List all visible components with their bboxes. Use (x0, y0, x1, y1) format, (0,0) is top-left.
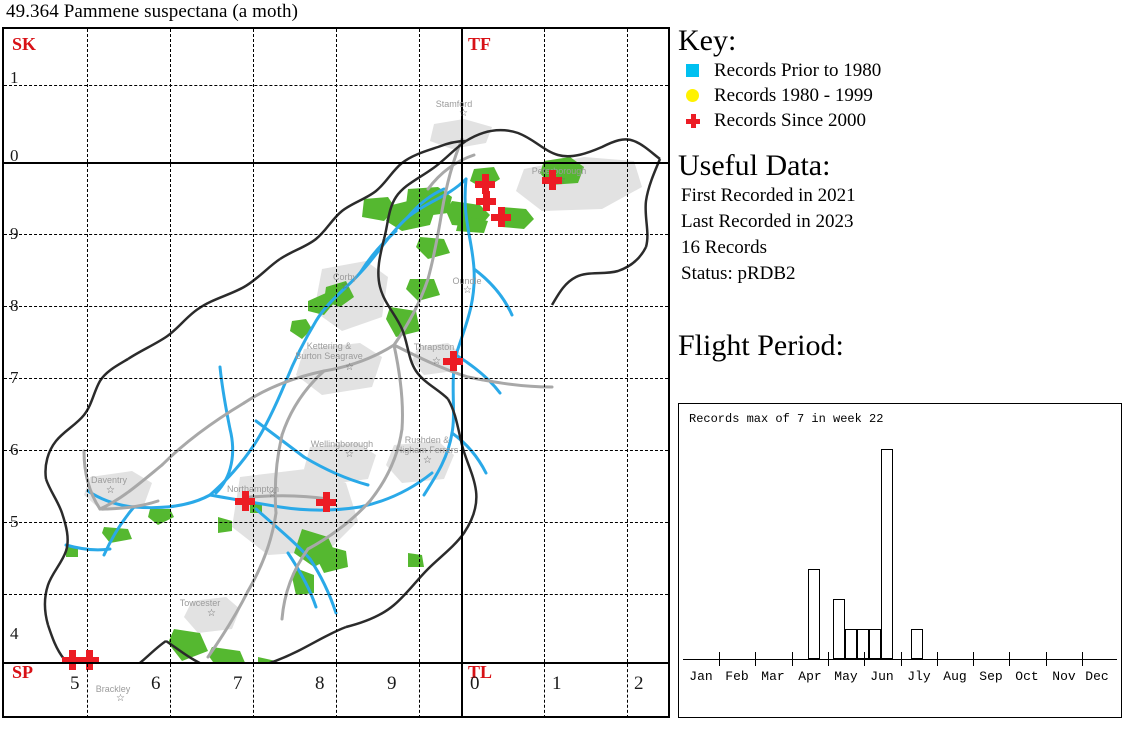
map-x-label: 9 (387, 673, 397, 695)
key-item-label: Records Since 2000 (714, 110, 866, 131)
map-gridline-v (627, 29, 628, 662)
chart-bar (857, 629, 869, 659)
map-gridline-h (4, 378, 668, 379)
map-y-label: 6 (10, 441, 19, 458)
map-y-label: 7 (10, 369, 19, 386)
map-gridline-v-major (461, 29, 463, 662)
chart-month-label: Dec (1079, 669, 1115, 684)
page-title: 49.364 Pammene suspectana (a moth) (6, 1, 298, 23)
map-y-label: 9 (10, 225, 19, 242)
map-x-label: 6 (151, 673, 161, 695)
map-inner: SK TF SP TL 1 0 9 8 7 6 5 4 Stamford ☆ P… (4, 29, 668, 716)
town-label: Wellingborough (300, 439, 384, 449)
map-y-label: 8 (10, 297, 19, 314)
town-label: Stamford (424, 99, 484, 109)
town-marker: ☆ (459, 109, 468, 119)
town-marker: ☆ (432, 357, 441, 367)
chart-month-label: Oct (1009, 669, 1045, 684)
record-marker-cross[interactable] (542, 170, 562, 190)
distribution-map-panel[interactable]: SK TF SP TL 1 0 9 8 7 6 5 4 Stamford ☆ P… (2, 27, 670, 718)
town-label: Kettering & Burton Seagrave (282, 341, 376, 361)
grid-square-label-tf: TF (468, 35, 491, 53)
chart-bar (833, 599, 845, 659)
chart-bar (881, 449, 893, 659)
key-heading: Key: (678, 24, 1122, 58)
map-gridline-h (4, 234, 668, 235)
record-marker-cross[interactable] (443, 351, 463, 371)
map-gridline-h (4, 450, 668, 451)
map-gridline-h (4, 306, 668, 307)
town-marker: ☆ (341, 282, 350, 292)
map-x-label: 8 (315, 673, 325, 695)
yellow-circle-icon (686, 89, 714, 102)
map-y-label: 4 (10, 625, 19, 642)
town-marker: ☆ (423, 456, 432, 466)
record-marker-cross[interactable] (491, 207, 511, 227)
map-x-axis: 5 6 7 8 9 0 1 2 (4, 662, 668, 716)
map-gridline-h (4, 85, 668, 86)
map-x-label: 5 (70, 673, 80, 695)
useful-data-status: Status: pRDB2 (678, 261, 1122, 287)
chart-bar (869, 629, 881, 659)
map-y-label: 0 (10, 147, 19, 164)
map-y-label: 5 (10, 513, 19, 530)
map-gridline-v (87, 29, 88, 662)
key-item-1980-1999: Records 1980 - 1999 (678, 83, 1122, 108)
key-item-label: Records Prior to 1980 (714, 60, 881, 81)
chart-month-label: May (828, 669, 864, 684)
town-marker: ☆ (345, 450, 354, 460)
flight-period-chart[interactable]: Records max of 7 in week 22 Jan Feb Mar … (678, 403, 1122, 718)
town-label: Towcester (172, 598, 228, 608)
chart-x-axis-line (683, 659, 1117, 660)
useful-data-record-count: 16 Records (678, 235, 1122, 261)
map-gridline-v (253, 29, 254, 662)
chart-month-label: Jun (864, 669, 900, 684)
chart-month-label: Mar (755, 669, 791, 684)
key-item-prior-1980: Records Prior to 1980 (678, 58, 1122, 83)
record-marker-cross[interactable] (235, 491, 255, 511)
red-cross-icon (686, 114, 714, 128)
chart-month-label: Apr (792, 669, 828, 684)
chart-month-label: Nov (1046, 669, 1082, 684)
town-label: Daventry (82, 475, 136, 485)
chart-month-label: Jly (901, 669, 937, 684)
chart-bar (911, 629, 923, 659)
grid-square-label-sk: SK (12, 35, 36, 53)
map-gridline-h (4, 594, 668, 595)
map-gridline-v (544, 29, 545, 662)
chart-bar (845, 629, 857, 659)
map-y-label: 1 (10, 69, 19, 86)
map-x-label: 0 (470, 673, 480, 695)
town-marker: ☆ (268, 490, 277, 500)
cyan-square-icon (686, 64, 714, 77)
flight-period-heading: Flight Period: (678, 329, 1122, 363)
chart-bar (808, 569, 820, 659)
town-label: Rushden & Higham Ferrers (384, 435, 470, 455)
chart-month-label: Aug (937, 669, 973, 684)
chart-month-label: Sep (973, 669, 1009, 684)
chart-plot-area (683, 431, 1117, 659)
key-item-label: Records 1980 - 1999 (714, 85, 873, 106)
chart-month-label: Jan (683, 669, 719, 684)
map-gridline-h-major (4, 162, 668, 164)
town-marker: ☆ (345, 363, 354, 373)
chart-month-label: Feb (719, 669, 755, 684)
map-x-label: 1 (552, 673, 562, 695)
town-marker: ☆ (207, 609, 216, 619)
town-marker: ☆ (463, 286, 472, 296)
map-x-label: 7 (233, 673, 243, 695)
chart-caption: Records max of 7 in week 22 (689, 412, 883, 426)
town-marker: ☆ (106, 486, 115, 496)
info-column: Key: Records Prior to 1980 Records 1980 … (678, 24, 1122, 363)
map-gridline-v (170, 29, 171, 662)
useful-data-first-recorded: First Recorded in 2021 (678, 183, 1122, 209)
record-marker-cross[interactable] (316, 492, 336, 512)
key-item-since-2000: Records Since 2000 (678, 108, 1122, 133)
useful-data-heading: Useful Data: (678, 149, 1122, 183)
useful-data-last-recorded: Last Recorded in 2023 (678, 209, 1122, 235)
map-gridline-h (4, 522, 668, 523)
map-x-label: 2 (634, 673, 644, 695)
